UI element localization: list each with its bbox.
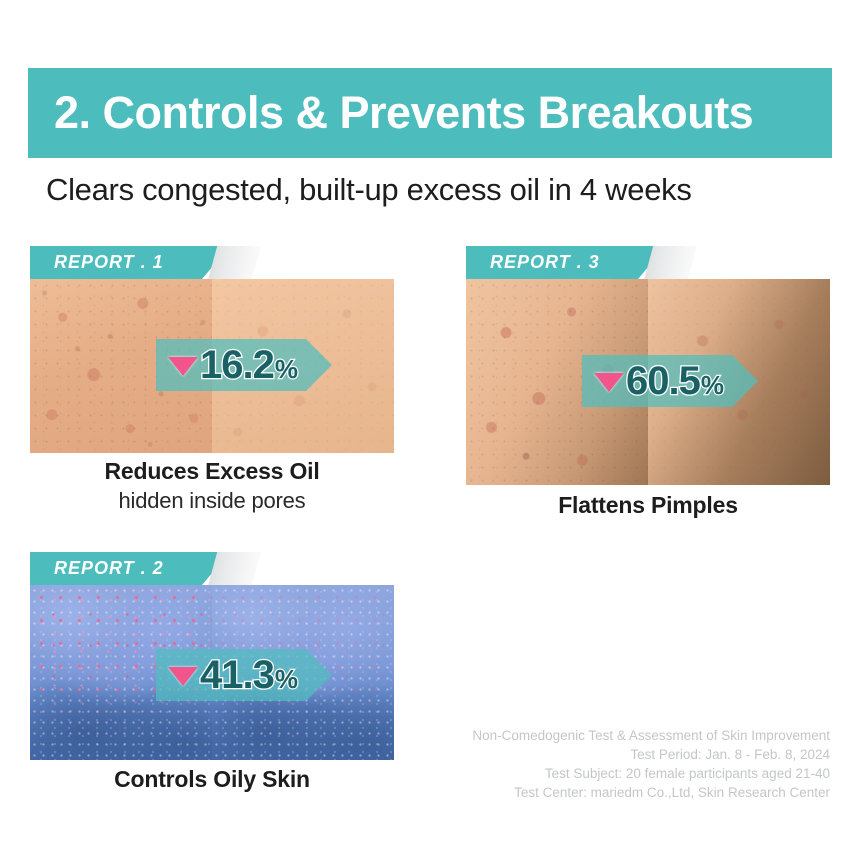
report-tab-2: REPORT . 3: [466, 246, 830, 279]
report-tab-label: REPORT . 1: [54, 252, 164, 273]
report-card-3: REPORT . 2 41.3 %: [30, 552, 394, 760]
caption-main: Controls Oily Skin: [30, 766, 394, 793]
down-triangle-icon: [594, 373, 624, 392]
before-after-photo-3: 41.3 %: [30, 585, 394, 760]
caption-2: Flattens Pimples: [466, 492, 830, 519]
down-triangle-icon: [168, 667, 198, 686]
percent-symbol: %: [275, 666, 298, 692]
caption-sub: hidden inside pores: [30, 488, 394, 514]
header-band: 2. Controls & Prevents Breakouts: [28, 68, 832, 158]
down-triangle-icon: [168, 357, 198, 376]
disclaimer-line-3: Test Subject: 20 female participants age…: [472, 764, 830, 783]
page-title: 2. Controls & Prevents Breakouts: [54, 87, 753, 139]
report-tab-teal-3: REPORT . 2: [30, 552, 230, 585]
card-media-2: REPORT . 3 60.5 %: [466, 246, 830, 485]
card-media-3: REPORT . 2 41.3 %: [30, 552, 394, 760]
percent-symbol: %: [701, 372, 724, 398]
disclaimer-line-1: Non-Comedogenic Test & Assessment of Ski…: [472, 726, 830, 745]
result-badge-3: 41.3 %: [156, 649, 332, 701]
before-after-photo-2: 60.5 %: [466, 279, 830, 485]
before-after-photo-1: 16.2 %: [30, 279, 394, 453]
report-tab-teal-1: REPORT . 1: [30, 246, 230, 279]
test-disclaimer: Non-Comedogenic Test & Assessment of Ski…: [472, 726, 830, 802]
caption-3: Controls Oily Skin: [30, 766, 394, 793]
caption-main: Flattens Pimples: [466, 492, 830, 519]
report-card-1: REPORT . 1 16.2 % Reduces Excess Oil: [30, 246, 394, 453]
result-value: 60.5: [626, 361, 700, 401]
report-card-2: REPORT . 3 60.5 % Flattens Pimples: [466, 246, 830, 485]
result-value: 41.3: [200, 655, 274, 695]
caption-1: Reduces Excess Oil hidden inside pores: [30, 458, 394, 514]
report-tab-label: REPORT . 3: [490, 252, 600, 273]
report-tab-teal-2: REPORT . 3: [466, 246, 666, 279]
disclaimer-line-2: Test Period: Jan. 8 - Feb. 8, 2024: [472, 745, 830, 764]
report-tab-label: REPORT . 2: [54, 558, 164, 579]
disclaimer-line-4: Test Center: mariedm Co.,Ltd, Skin Resea…: [472, 783, 830, 802]
card-media-1: REPORT . 1 16.2 %: [30, 246, 394, 453]
result-value: 16.2: [200, 345, 274, 385]
report-tab-1: REPORT . 1: [30, 246, 394, 279]
result-badge-2: 60.5 %: [582, 355, 758, 407]
caption-main: Reduces Excess Oil: [30, 458, 394, 485]
infographic-page: 2. Controls & Prevents Breakouts Clears …: [0, 0, 860, 860]
percent-symbol: %: [275, 356, 298, 382]
page-subtitle: Clears congested, built-up excess oil in…: [46, 172, 692, 208]
result-badge-1: 16.2 %: [156, 339, 332, 391]
report-tab-3: REPORT . 2: [30, 552, 394, 585]
